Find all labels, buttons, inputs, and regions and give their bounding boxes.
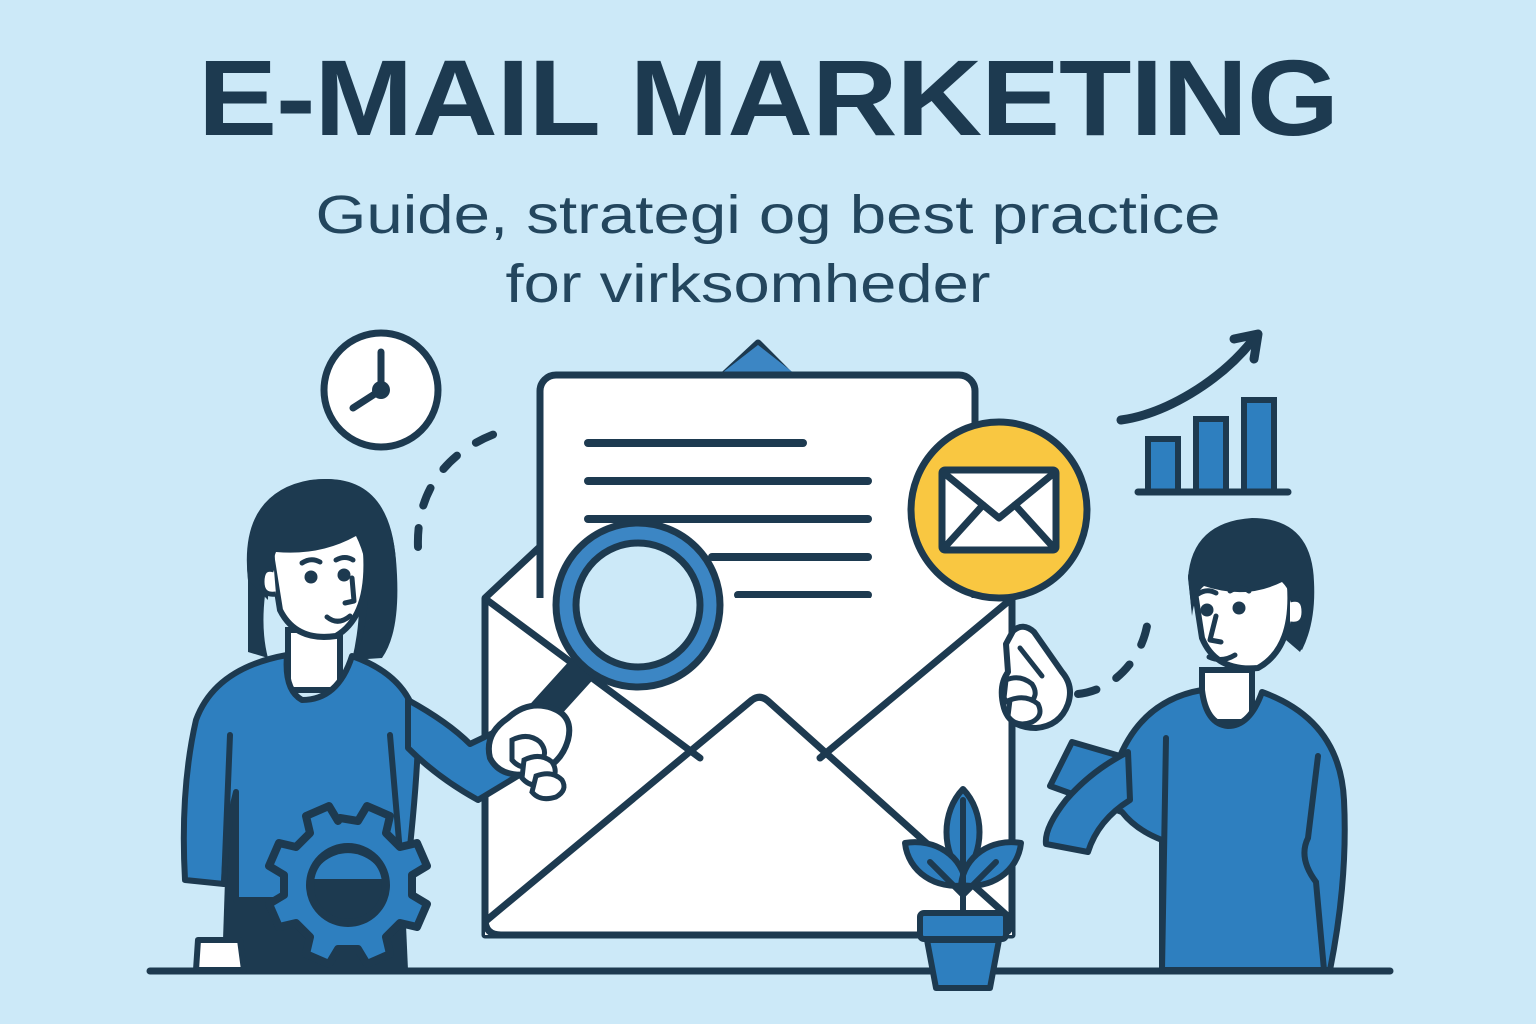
- bar-3: [1244, 400, 1274, 492]
- page-subtitle-line-2: for virksomheder: [506, 254, 991, 314]
- plant-pot-rim: [920, 913, 1006, 939]
- envelope-front: [485, 598, 1012, 935]
- man-eye-right: [1233, 602, 1246, 615]
- plant-pot-body: [927, 940, 999, 988]
- mail-badge-icon: [911, 422, 1087, 598]
- bar-1: [1148, 439, 1178, 492]
- man-ear: [1290, 599, 1304, 624]
- woman-eye-right: [338, 569, 351, 582]
- man-eye-left: [1201, 604, 1214, 617]
- woman-shoe: [196, 940, 244, 970]
- page-subtitle-line-1: Guide, strategi og best practice: [316, 185, 1221, 245]
- woman-ear: [262, 569, 276, 594]
- magnifier-ring: [566, 533, 710, 677]
- page-title: E-MAIL MARKETING: [198, 37, 1338, 158]
- poster-canvas: E-MAIL MARKETING Guide, strategi og best…: [0, 0, 1536, 1024]
- bar-2: [1196, 419, 1226, 492]
- woman-brow-right: [336, 558, 353, 561]
- clock-icon: [324, 333, 438, 447]
- woman-eye-left: [305, 571, 318, 584]
